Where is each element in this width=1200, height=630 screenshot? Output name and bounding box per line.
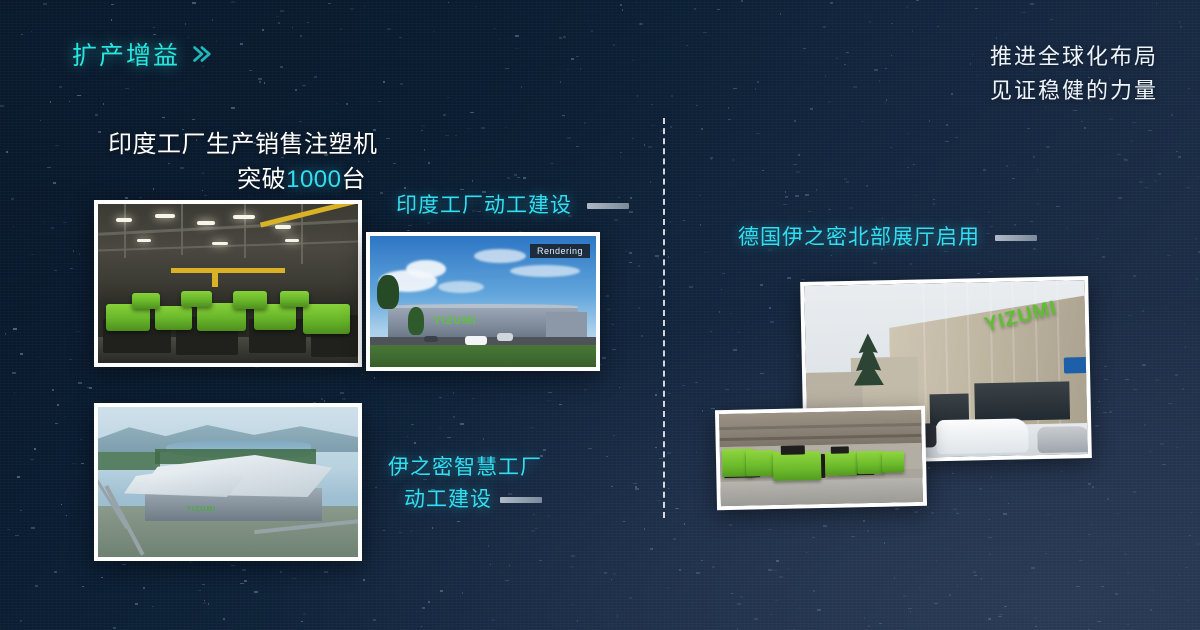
double-chevron-right-icon <box>190 43 212 65</box>
india-factory-rendering-photo: YIZUMI Rendering <box>366 232 600 371</box>
photo-inner <box>719 410 923 506</box>
vertical-dashed-divider <box>663 118 665 518</box>
smart-factory-aerial-photo: YIZUMI <box>94 403 362 561</box>
caption-underline-accent <box>500 497 542 503</box>
headline-block: 推进全球化布局 见证稳健的力量 <box>990 40 1158 108</box>
caption-india-sales-line-2: 突破1000台 <box>108 163 366 198</box>
caption-india-sales: 印度工厂生产销售注塑机 突破1000台 <box>108 128 366 198</box>
germany-machines-scene <box>719 410 923 506</box>
germany-showroom-machines-photo <box>715 406 927 510</box>
caption-suffix: 台 <box>342 166 367 193</box>
factory-interior-scene <box>98 204 358 363</box>
photo-inner: YIZUMI <box>98 407 358 557</box>
caption-underline-accent <box>587 203 629 209</box>
caption-prefix: 突破 <box>237 166 286 193</box>
caption-smart-factory-line-1: 伊之密智慧工厂 <box>378 452 542 484</box>
slide-root: 扩产增益 推进全球化布局 见证稳健的力量 印度工厂生产销售注塑机 突破1000台… <box>0 0 1200 630</box>
caption-germany-showroom: 德国伊之密北部展厅启用 <box>738 222 1037 254</box>
rendering-watermark-badge: Rendering <box>530 244 590 258</box>
caption-india-construction: 印度工厂动工建设 <box>396 190 629 222</box>
smart-factory-scene: YIZUMI <box>98 407 358 557</box>
caption-india-sales-line-1: 印度工厂生产销售注塑机 <box>108 128 366 163</box>
caption-india-construction-label: 印度工厂动工建设 <box>396 194 572 217</box>
caption-highlight-number: 1000 <box>286 166 341 193</box>
headline-line-1: 推进全球化布局 <box>990 40 1158 74</box>
india-factory-interior-photo <box>94 200 362 367</box>
section-title-label: 扩产增益 <box>72 36 180 72</box>
section-title: 扩产增益 <box>72 36 212 72</box>
factory-rendering-scene: YIZUMI Rendering <box>370 236 596 367</box>
caption-smart-factory: 伊之密智慧工厂 动工建设 <box>378 452 542 515</box>
caption-smart-factory-line-2: 动工建设 <box>378 484 542 516</box>
headline-line-2: 见证稳健的力量 <box>990 74 1158 108</box>
photo-inner <box>98 204 358 363</box>
caption-underline-accent <box>995 235 1037 241</box>
caption-smart-factory-label: 动工建设 <box>404 488 492 511</box>
photo-inner: YIZUMI Rendering <box>370 236 596 367</box>
caption-germany-showroom-label: 德国伊之密北部展厅启用 <box>738 226 980 249</box>
